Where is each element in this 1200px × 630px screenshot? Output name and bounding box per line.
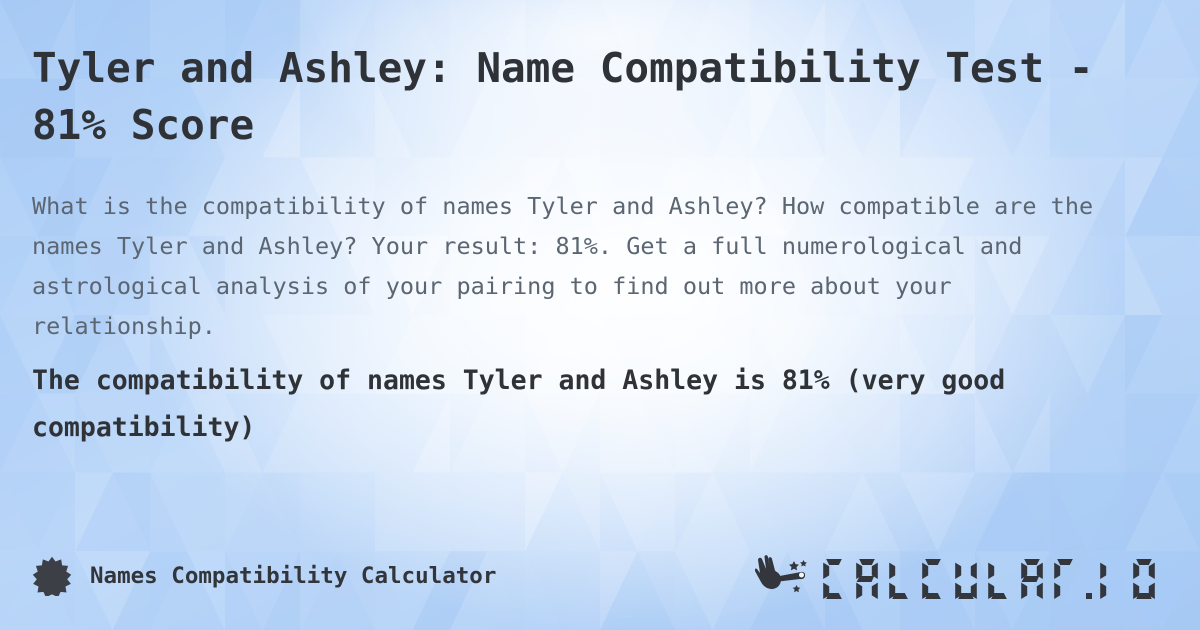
- description-text: What is the compatibility of names Tyler…: [32, 186, 1142, 346]
- page-title: Tyler and Ashley: Name Compatibility Tes…: [32, 40, 1162, 154]
- starburst-icon: [32, 556, 72, 596]
- brand-name-label: Names Compatibility Calculator: [90, 563, 496, 589]
- magic-wand-hand-icon: [755, 554, 811, 598]
- footer: Names Compatibility Calculator: [0, 544, 1200, 608]
- logo-wordmark: [821, 553, 1164, 599]
- brand-block: Names Compatibility Calculator: [32, 556, 496, 596]
- card-content: Tyler and Ashley: Name Compatibility Tes…: [0, 0, 1200, 630]
- site-logo[interactable]: [755, 553, 1164, 599]
- result-statement: The compatibility of names Tyler and Ash…: [32, 357, 1162, 451]
- social-preview-card: Tyler and Ashley: Name Compatibility Tes…: [0, 0, 1200, 630]
